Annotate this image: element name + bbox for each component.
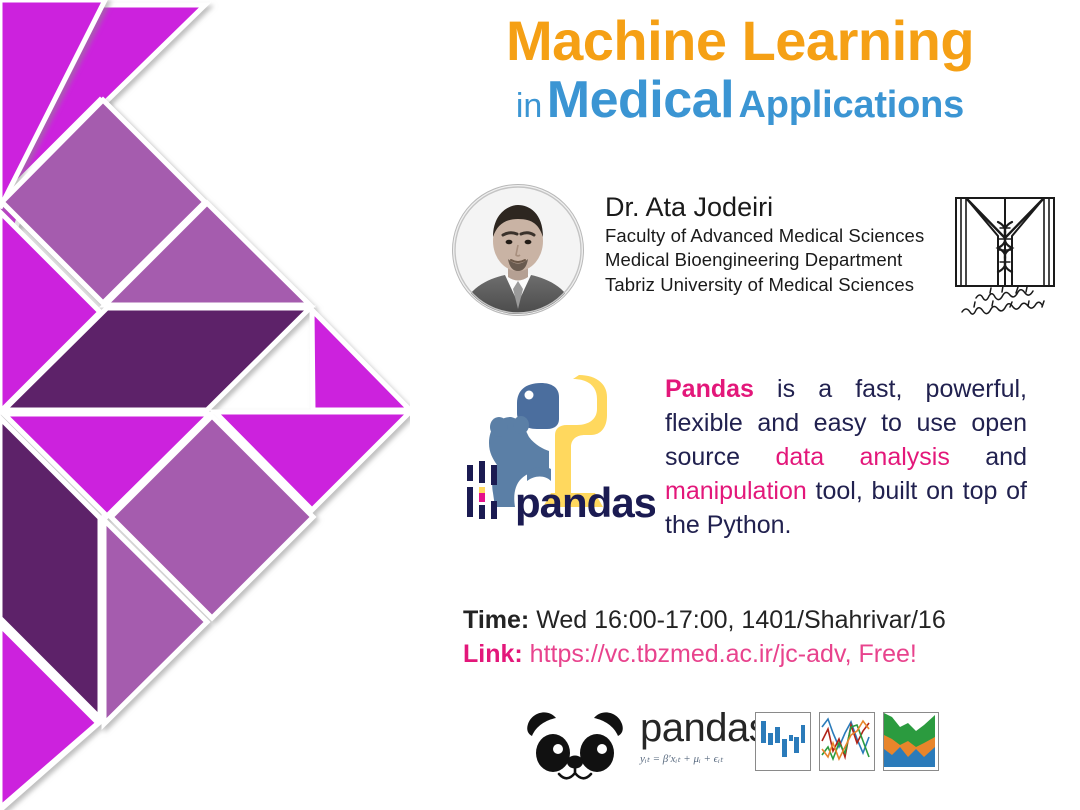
pandas-section: pandas Pandas is a fast, powerful, flexi… [450, 360, 1050, 550]
pandas-desc-data-analysis: data analysis [775, 443, 949, 471]
time-label: Time: [463, 606, 529, 634]
speaker-affiliation-2: Medical Bioengineering Department [605, 248, 945, 273]
tangram-pattern [0, 0, 410, 810]
link-label: Link: [463, 640, 523, 668]
speaker-section: Dr. Ata Jodeiri Faculty of Advanced Medi… [450, 182, 1070, 322]
pandas-word: Pandas [665, 375, 754, 403]
speaker-name: Dr. Ata Jodeiri [605, 192, 945, 224]
link-row: Link: https://vc.tbzmed.ac.ir/jc-adv, Fr… [463, 638, 1063, 672]
chart-thumbnails [755, 712, 939, 771]
university-logo [942, 182, 1068, 318]
pandas-python-logo: pandas [455, 365, 655, 540]
avatar [452, 184, 584, 316]
event-meta: Time: Wed 16:00-17:00, 1401/Shahrivar/16… [463, 604, 1063, 671]
time-value: Wed 16:00-17:00, 1401/Shahrivar/16 [536, 606, 946, 634]
title-machine-learning: Machine Learning [506, 9, 974, 72]
time-row: Time: Wed 16:00-17:00, 1401/Shahrivar/16 [463, 604, 1063, 638]
panda-face-icon [520, 706, 630, 788]
title-line-1: Machine Learning [430, 12, 1050, 71]
pandas-desc-part-3: and [950, 443, 1027, 471]
footer-branding: pandas yᵢₜ = β′xᵢₜ + μᵢ + ϵᵢₜ [505, 700, 955, 800]
line-chart-thumbnail [819, 712, 875, 771]
speaker-details: Dr. Ata Jodeiri Faculty of Advanced Medi… [605, 192, 945, 298]
poster-canvas: Machine Learning in Medical Applications [0, 0, 1080, 810]
title-applications-word: Applications [738, 84, 964, 126]
link-value[interactable]: https://vc.tbzmed.ac.ir/jc-adv, Free! [530, 640, 917, 668]
page-title: Machine Learning in Medical Applications [430, 12, 1050, 127]
svg-text:pandas: pandas [515, 479, 655, 526]
title-in-word: in [516, 87, 542, 125]
pandas-description: Pandas is a fast, powerful, flexible and… [665, 372, 1027, 542]
pandas-desc-manipulation: manipulation [665, 477, 807, 505]
speaker-affiliation-3: Tabriz University of Medical Sciences [605, 273, 945, 298]
title-line-2: in Medical Applications [430, 73, 1050, 128]
area-chart-thumbnail [883, 712, 939, 771]
bar-chart-thumbnail [755, 712, 811, 771]
speaker-affiliation-1: Faculty of Advanced Medical Sciences [605, 224, 945, 249]
title-medical-word: Medical [547, 71, 734, 129]
